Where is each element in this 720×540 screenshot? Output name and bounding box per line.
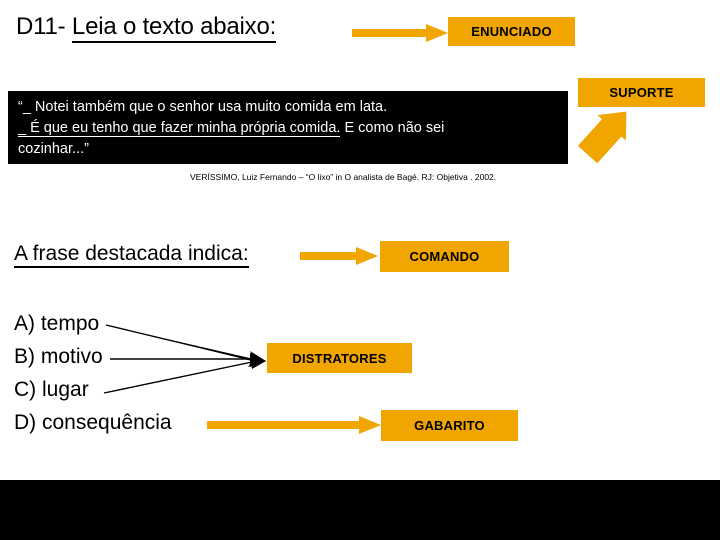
arrow-to-gabarito: [207, 416, 383, 434]
callout-suporte: SUPORTE: [578, 78, 705, 107]
callout-gabarito: GABARITO: [381, 410, 518, 441]
page-title: D11- Leia o texto abaixo:: [16, 13, 276, 41]
slide-canvas: D11- Leia o texto abaixo: ENUNCIADO “_ N…: [0, 0, 720, 540]
passage-textbox: “_ Notei também que o senhor usa muito c…: [8, 91, 568, 164]
callout-enunciado: ENUNCIADO: [448, 17, 575, 46]
passage-line-3: cozinhar...”: [18, 139, 558, 160]
question-text-underlined: A frase destacada indica:: [14, 242, 249, 268]
title-prefix: D11-: [16, 13, 72, 40]
question-text: A frase destacada indica:: [14, 242, 249, 266]
arrow-to-comando: [300, 247, 380, 265]
callout-distratores: DISTRATORES: [267, 343, 412, 373]
passage-line-1: “_ Notei também que o senhor usa muito c…: [18, 97, 558, 118]
title-underlined: Leia o texto abaixo:: [72, 13, 276, 43]
alternative-d: D) consequência: [14, 406, 172, 439]
passage-line-2-underlined: _ É que eu tenho que fazer minha própria…: [18, 120, 340, 137]
bottom-bar: [0, 480, 720, 540]
passage-line-2-rest: E como não sei: [340, 120, 444, 136]
arrow-to-enunciado: [352, 24, 450, 42]
callout-comando: COMANDO: [380, 241, 509, 272]
passage-line-2: _ É que eu tenho que fazer minha própria…: [18, 118, 558, 139]
arrow-to-suporte: [588, 104, 648, 162]
passage-source: VERÍSSIMO, Luiz Fernando – “O lixo” in O…: [190, 172, 496, 182]
arrow-lines-to-distratores: [100, 315, 270, 395]
